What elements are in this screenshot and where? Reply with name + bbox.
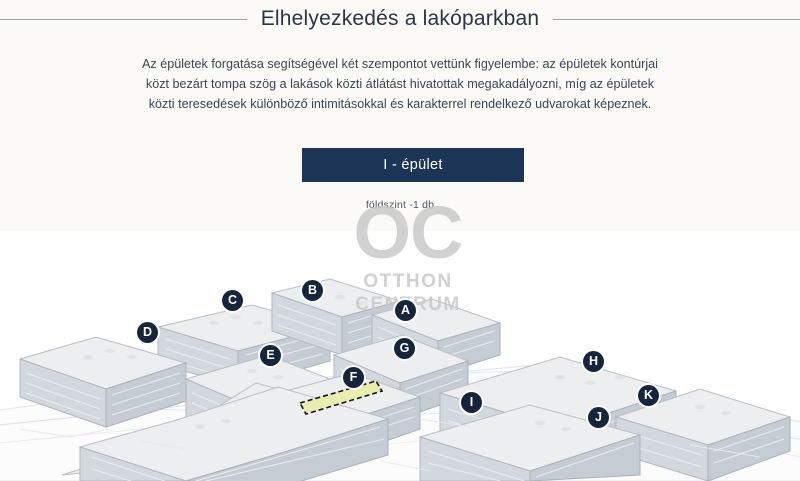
building-marker-a[interactable]: A <box>395 300 416 321</box>
building-marker-h[interactable]: H <box>583 351 604 372</box>
building-marker-g[interactable]: G <box>394 338 415 359</box>
building-marker-e[interactable]: E <box>260 345 281 366</box>
info-panel: Elhelyezkedés a lakóparkban Az épületek … <box>0 0 800 231</box>
building-marker-b[interactable]: B <box>302 280 323 301</box>
selected-building-button[interactable]: I - épület <box>302 148 524 182</box>
building-marker-c[interactable]: C <box>222 290 243 311</box>
page-title: Elhelyezkedés a lakóparkban <box>261 7 540 31</box>
building-marker-j[interactable]: J <box>588 407 609 428</box>
title-rule-left <box>0 19 247 20</box>
building-marker-i[interactable]: I <box>461 392 482 413</box>
building-marker-f[interactable]: F <box>343 367 364 388</box>
title-rule-right <box>553 19 800 20</box>
building-marker-d[interactable]: D <box>137 322 158 343</box>
building-marker-k[interactable]: K <box>638 385 659 406</box>
page-title-row: Elhelyezkedés a lakóparkban <box>0 2 800 36</box>
floor-summary-label: földszint -1 db <box>0 199 800 211</box>
intro-paragraph: Az épületek forgatása segítségével két s… <box>140 54 660 114</box>
site-plan-render[interactable]: DCBAEGFHIKJ <box>0 231 800 481</box>
page-root: Elhelyezkedés a lakóparkban Az épületek … <box>0 0 800 481</box>
